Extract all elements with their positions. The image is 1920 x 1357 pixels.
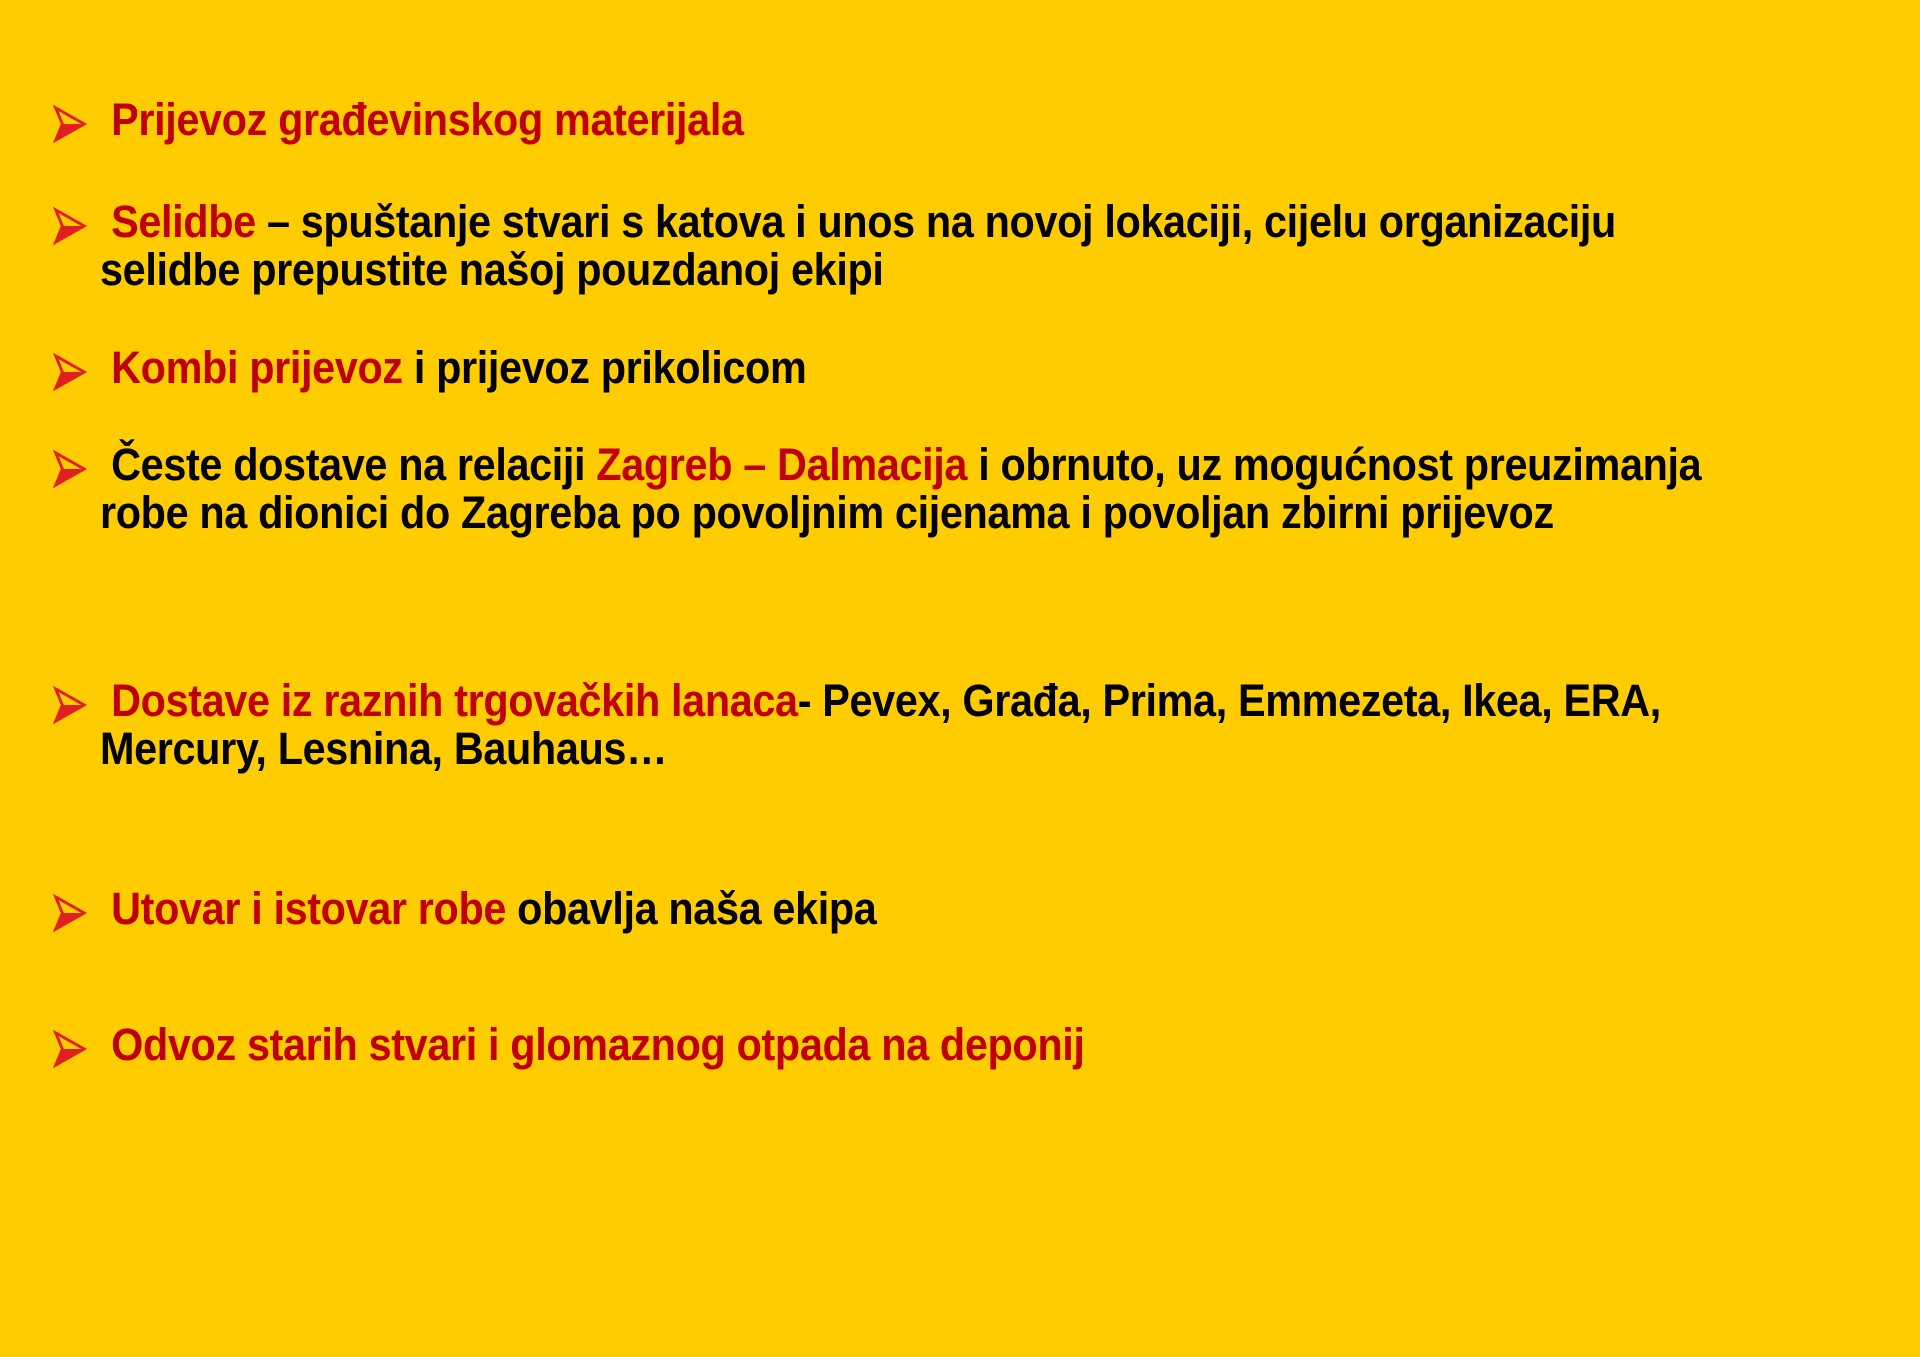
- text-segment: i prijevoz prikolicom: [403, 342, 807, 393]
- text-segment: Odvoz starih stvari i glomaznog otpada n…: [100, 1019, 1085, 1070]
- text-segment: Prijevoz građevinskog materijala: [100, 94, 744, 145]
- arrow-bullet-icon: [50, 104, 88, 144]
- slide-canvas: Prijevoz građevinskog materijala Selidbe…: [0, 0, 1920, 1357]
- text-segment: – spuštanje stvari s katova i unos na no…: [100, 196, 1627, 295]
- text-segment: obavlja naša ekipa: [506, 883, 876, 934]
- arrow-bullet-icon: [50, 893, 88, 933]
- arrow-bullet-icon: [50, 685, 88, 725]
- bullet-item-prijevoz-gradevinskog-materijala: Prijevoz građevinskog materijala: [40, 96, 1880, 144]
- bullet-text-dostave-iz-trgovackih-lanaca: Dostave iz raznih trgovačkih lanaca- Pev…: [100, 677, 1738, 773]
- bullet-item-ceste-dostave: Česte dostave na relaciji Zagreb – Dalma…: [40, 441, 1880, 537]
- text-segment: Zagreb – Dalmacija: [596, 439, 967, 490]
- bullet-text-kombi-prijevoz: Kombi prijevoz i prijevoz prikolicom: [100, 344, 806, 392]
- bullet-item-utovar-i-istovar-robe: Utovar i istovar robe obavlja naša ekipa: [40, 885, 1880, 933]
- text-segment: Česte dostave na relaciji: [100, 439, 596, 490]
- arrow-bullet-icon: [50, 352, 88, 392]
- bullet-text-odvoz-starih-stvari: Odvoz starih stvari i glomaznog otpada n…: [100, 1021, 1085, 1069]
- text-segment: Dostave iz raznih trgovačkih lanaca: [100, 675, 798, 726]
- bullet-text-ceste-dostave: Česte dostave na relaciji Zagreb – Dalma…: [100, 441, 1738, 537]
- bullet-text-prijevoz-gradevinskog-materijala: Prijevoz građevinskog materijala: [100, 96, 744, 144]
- services-bullet-list: Prijevoz građevinskog materijala Selidbe…: [40, 96, 1880, 1069]
- arrow-bullet-icon: [50, 449, 88, 489]
- bullet-item-odvoz-starih-stvari: Odvoz starih stvari i glomaznog otpada n…: [40, 1021, 1880, 1069]
- bullet-item-selidbe: Selidbe – spuštanje stvari s katova i un…: [40, 198, 1880, 294]
- bullet-item-kombi-prijevoz: Kombi prijevoz i prijevoz prikolicom: [40, 344, 1880, 392]
- text-segment: Kombi prijevoz: [100, 342, 403, 393]
- arrow-bullet-icon: [50, 206, 88, 246]
- bullet-text-selidbe: Selidbe – spuštanje stvari s katova i un…: [100, 198, 1738, 294]
- text-segment: Selidbe: [100, 196, 256, 247]
- text-segment: Utovar i istovar robe: [100, 883, 506, 934]
- bullet-text-utovar-i-istovar-robe: Utovar i istovar robe obavlja naša ekipa: [100, 885, 876, 933]
- bullet-item-dostave-iz-trgovackih-lanaca: Dostave iz raznih trgovačkih lanaca- Pev…: [40, 677, 1880, 773]
- arrow-bullet-icon: [50, 1029, 88, 1069]
